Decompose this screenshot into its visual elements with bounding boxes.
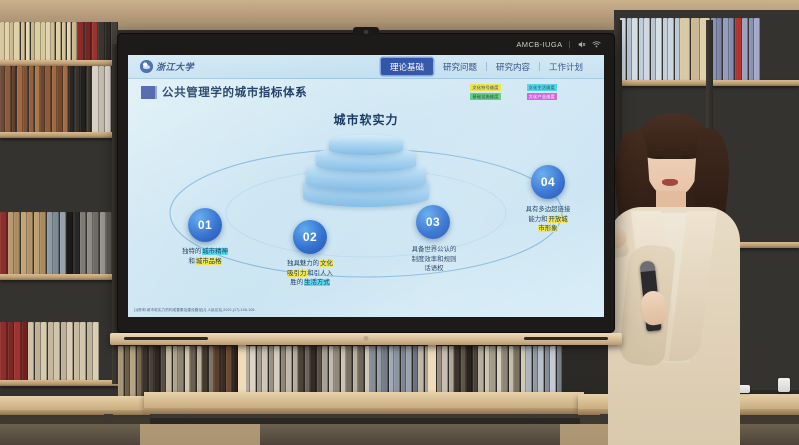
book-row [118, 346, 618, 396]
tab-theory-basis[interactable]: 理论基础 [381, 58, 433, 75]
tab-research-questions[interactable]: 研究问题 [434, 58, 486, 75]
cap-text: 独特的 [182, 248, 202, 255]
cap-text: 制度效率和规则 [411, 256, 457, 263]
wifi-icon[interactable] [592, 40, 601, 49]
chip-column-right: 文化生活维度 文化产业维度 [527, 84, 557, 99]
cap-text-highlight: 生活方式 [304, 279, 331, 286]
eye-left [655, 156, 663, 159]
slide-canvas[interactable]: 浙江大学 理论基础 研究问题 研究内容 工作计划 公共管理学的城市指标体系 文化… [128, 55, 604, 317]
cap-text: 能力和 [528, 216, 548, 223]
logo-text: 浙江大学 [156, 60, 194, 73]
node-03-caption: 具备世界公认的 制度效率和规则 话语权 [374, 245, 494, 274]
podium-graphic: 城市软实力 [303, 135, 429, 207]
book-row [0, 212, 118, 274]
eye-right [681, 156, 689, 159]
network-name: AMCB-IUGA [516, 40, 562, 49]
cap-text-highlight: 吸引力 [287, 270, 307, 277]
desk-item [778, 378, 790, 392]
cap-text: 具有多边超链接 [525, 206, 571, 213]
cap-text: 具备世界公认的 [411, 246, 457, 253]
eyebrow-left [654, 149, 664, 151]
cap-text-highlight: 开放城 [548, 216, 568, 223]
chip-cultural-life: 文化生活维度 [527, 84, 557, 91]
display-statusbar: AMCB-IUGA | [117, 36, 615, 53]
book-row [0, 322, 118, 380]
interactive-display[interactable]: AMCB-IUGA | 浙江大学 理论基础 研究问题 研究内容 工作计划 [117, 33, 615, 333]
node-04[interactable]: 04 [531, 165, 565, 199]
node-02[interactable]: 02 [293, 220, 327, 254]
soft-power-diagram: 城市软实力 01 独特的城市精神 和城市品格 02 独具魅力的文化 吸引力和引人… [128, 105, 604, 317]
cap-text: 独具魅力的 [287, 260, 320, 267]
title-marker [141, 86, 155, 99]
cap-text-highlight: 市形象 [538, 225, 558, 232]
cap-text-highlight: 文化 [320, 260, 334, 267]
dimension-chips: 文化符号维度 基础设施维度 文化生活维度 文化产业维度 [470, 84, 591, 99]
bookcase-left [0, 22, 118, 400]
slide-title: 公共管理学的城市指标体系 [162, 84, 307, 100]
tab-research-content[interactable]: 研究内容 [487, 58, 539, 75]
cap-text-highlight: 城市精神 [202, 248, 229, 255]
node-04-caption: 具有多边超链接 能力和开放城 市形象 [488, 205, 604, 234]
cap-text: 话语权 [424, 265, 444, 272]
eyebrow-right [680, 149, 690, 151]
display-stand [110, 333, 622, 345]
camera-icon [353, 27, 379, 36]
slide-footnote: [1]陈明.城市软实力的构成要素及建设路径[J].人民论坛,2022,(17):… [134, 308, 256, 313]
cap-text: 和引人入 [307, 270, 334, 277]
podium-tier [329, 135, 403, 155]
node-02-caption: 独具魅力的文化 吸引力和引人入 胜的生活方式 [250, 259, 370, 288]
speaker-mute-icon[interactable] [577, 40, 586, 49]
zhejiang-university-emblem-icon [140, 60, 153, 73]
stand-vent [124, 337, 208, 340]
stand-indicator [364, 336, 369, 341]
slide-header: 公共管理学的城市指标体系 文化符号维度 基础设施维度 文化生活维度 文化产业维度 [128, 79, 604, 105]
chip-cultural-industry: 文化产业维度 [527, 93, 557, 100]
slide-navbar: 浙江大学 理论基础 研究问题 研究内容 工作计划 [128, 55, 604, 79]
book-row [0, 66, 118, 132]
book-row [0, 22, 118, 60]
node-01[interactable]: 01 [188, 208, 222, 242]
cap-text: 胜的 [290, 279, 304, 286]
chip-cultural-symbol: 文化符号维度 [470, 84, 500, 91]
presenter [600, 95, 750, 445]
stand-vent [524, 337, 608, 340]
tab-work-plan[interactable]: 工作计划 [540, 58, 592, 75]
university-logo: 浙江大学 [140, 60, 258, 73]
mouth [662, 179, 678, 186]
node-01-caption: 独特的城市精神 和城市品格 [146, 247, 264, 266]
chip-infrastructure: 基础设施维度 [470, 93, 500, 100]
desk-row-middle [144, 392, 584, 408]
slide-tabs: 理论基础 研究问题 研究内容 工作计划 [258, 58, 592, 75]
cap-text-highlight: 城市品格 [195, 258, 222, 265]
node-03[interactable]: 03 [416, 205, 450, 239]
chair-back [140, 424, 260, 445]
chip-column-left: 文化符号维度 基础设施维度 [470, 84, 500, 99]
statusbar-divider: | [569, 40, 571, 49]
desk-row-back [0, 396, 150, 410]
core-label: 城市软实力 [333, 111, 398, 128]
